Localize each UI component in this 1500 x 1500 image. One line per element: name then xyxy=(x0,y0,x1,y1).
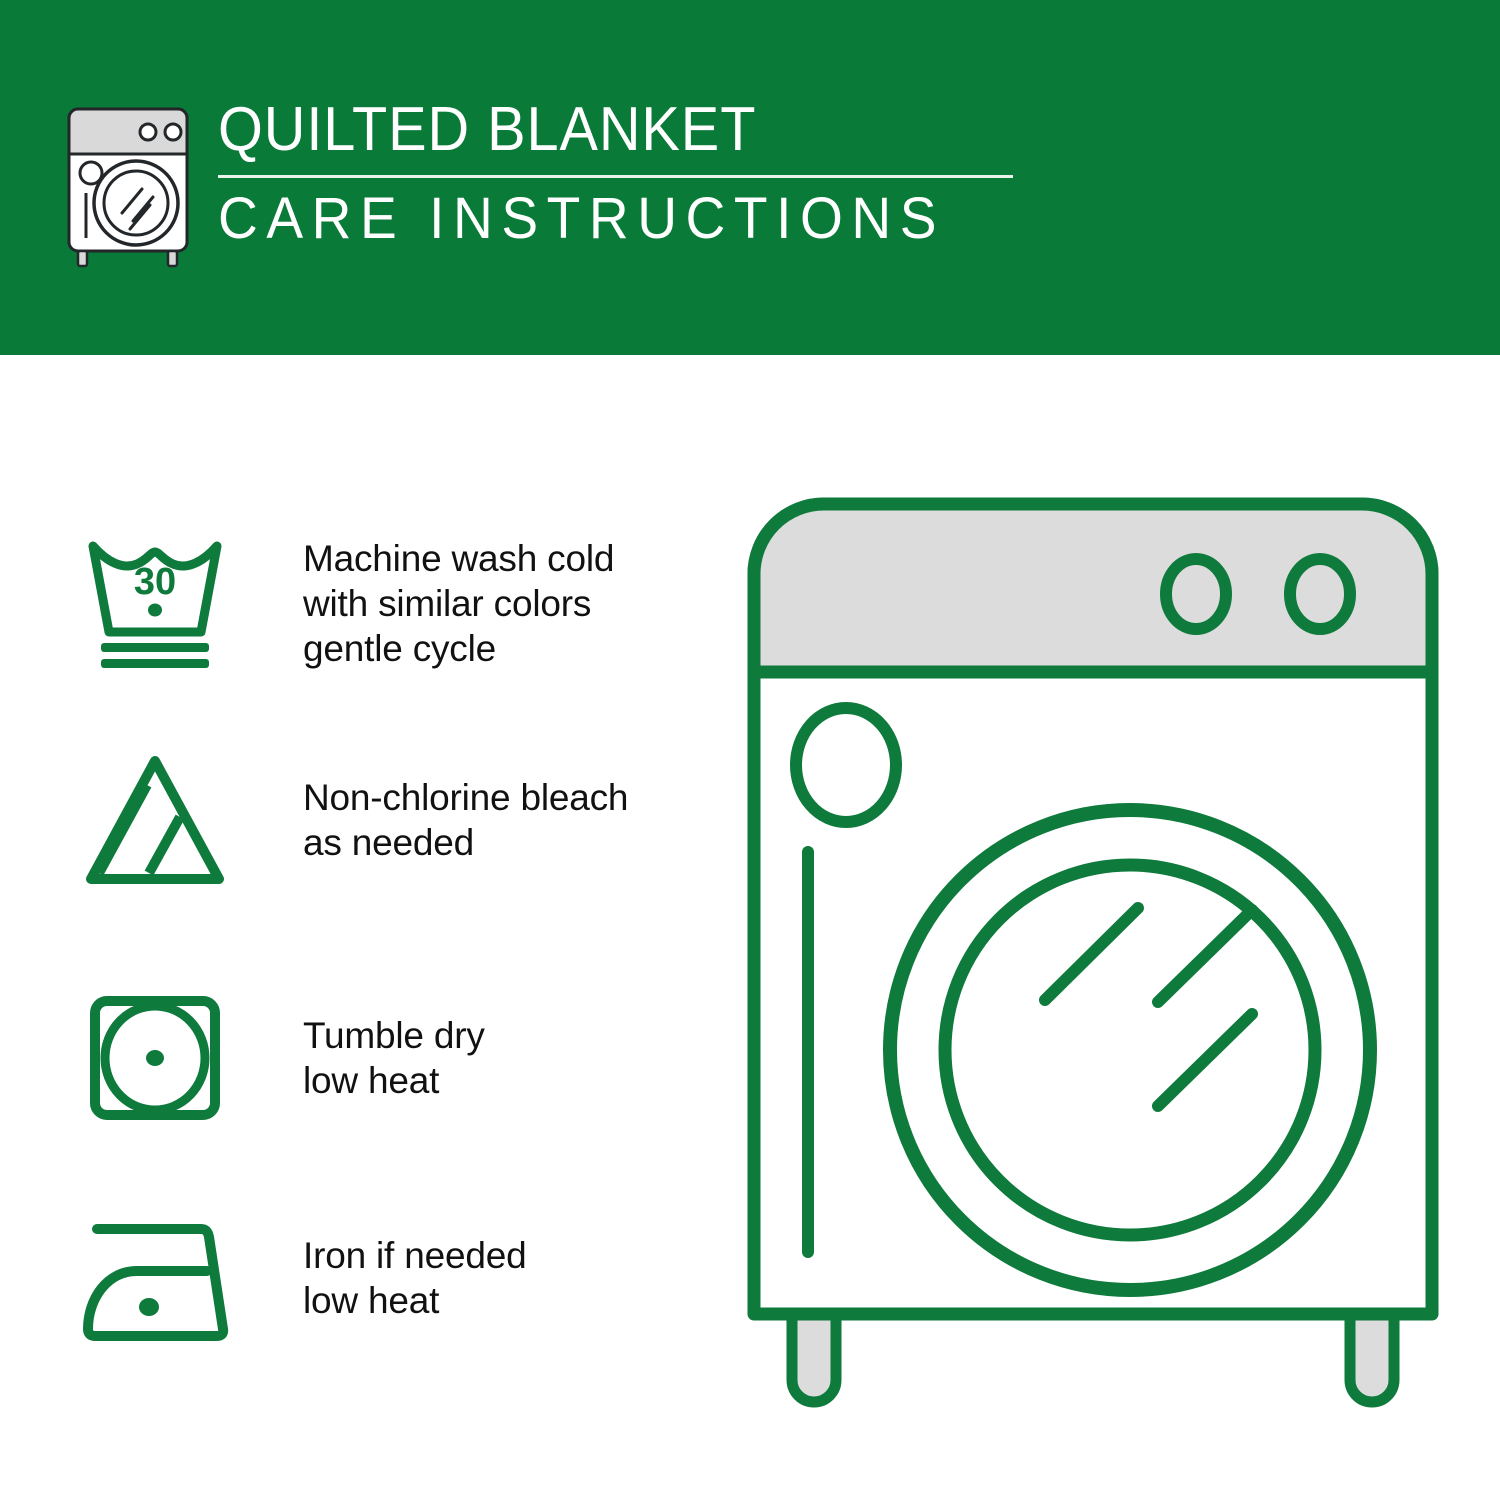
header-divider xyxy=(218,175,1013,178)
wash-tub-30-gentle-icon: 30 xyxy=(75,528,235,678)
knob-left[interactable] xyxy=(1166,559,1226,629)
washing-machine-icon xyxy=(60,105,210,270)
knob-right[interactable] xyxy=(1290,559,1350,629)
leg-left xyxy=(792,1310,836,1402)
non-chlorine-bleach-triangle-icon xyxy=(75,745,235,895)
care-item-text: Tumble dry low heat xyxy=(303,1013,485,1103)
leg-right xyxy=(1350,1310,1394,1402)
page-subtitle: CARE INSTRUCTIONS xyxy=(218,187,1045,251)
care-item-text: Iron if needed low heat xyxy=(303,1233,526,1323)
washing-machine-graphic xyxy=(740,490,1460,1430)
detergent-button[interactable] xyxy=(796,708,896,822)
tumble-dry-low-heat-icon xyxy=(75,983,235,1133)
care-instructions-list: 30 Machine wash cold with similar colors… xyxy=(0,355,730,1500)
care-item-text: Machine wash cold with similar colors ge… xyxy=(303,536,614,671)
care-item-text: Non-chlorine bleach as needed xyxy=(303,775,628,865)
care-item-bleach: Non-chlorine bleach as needed xyxy=(75,735,715,905)
wash-temperature-label: 30 xyxy=(134,561,176,603)
header-content: QUILTED BLANKET CARE INSTRUCTIONS xyxy=(60,95,1020,275)
header-title-block: QUILTED BLANKET CARE INSTRUCTIONS xyxy=(218,95,1088,251)
care-item-machine-wash: 30 Machine wash cold with similar colors… xyxy=(75,518,715,688)
header-banner: QUILTED BLANKET CARE INSTRUCTIONS xyxy=(0,0,1500,355)
page-title: QUILTED BLANKET xyxy=(218,95,1027,165)
care-item-iron: Iron if needed low heat xyxy=(75,1193,715,1363)
care-item-tumble-dry: Tumble dry low heat xyxy=(75,973,715,1143)
iron-low-heat-icon xyxy=(75,1203,235,1353)
front-load-washing-machine-illustration xyxy=(740,490,1460,1430)
